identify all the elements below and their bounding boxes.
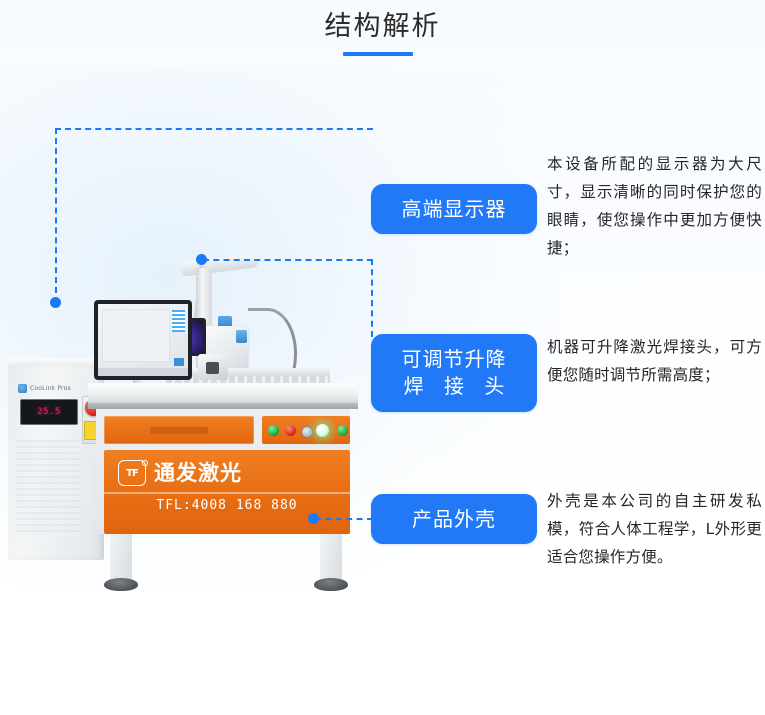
connector-line-1-horizontal (55, 128, 373, 130)
chiller-brand-text: CooLink Pros (30, 385, 71, 392)
callout-description-1: 本设备所配的显示器为大尺寸，显示清晰的同时保护您的眼睛，使您操作中更加方便快捷； (547, 150, 762, 262)
workbench-top (88, 383, 358, 405)
key-switch-icon[interactable] (301, 426, 313, 438)
callout-pill-high-end-monitor[interactable]: 高端显示器 (371, 184, 537, 234)
cabinet-divider (104, 492, 350, 494)
fixture-clamp (206, 362, 219, 374)
connector-dot-3 (308, 513, 319, 524)
coolink-logo-icon (18, 384, 27, 393)
callout-pill-1-label: 高端显示器 (402, 196, 507, 223)
screen-taskbar (98, 368, 188, 376)
drawer-handle-icon (150, 427, 208, 434)
connector-line-1-vertical (55, 128, 57, 303)
callout-description-2: 机器可升降激光焊接头，可方便您随时调节所需高度； (547, 333, 762, 389)
screen-panel-strip (172, 310, 185, 332)
green-button-2[interactable] (337, 425, 348, 436)
machine-leg-right (320, 534, 342, 582)
monitor-screen (98, 304, 188, 376)
red-stop-button[interactable] (285, 425, 296, 436)
connector-line-2-vertical (371, 259, 373, 337)
page-title: 结构解析 (0, 4, 765, 43)
machine-leg-left (110, 534, 132, 582)
chiller-vent-grille (16, 440, 80, 536)
chiller-brand-label: CooLink Pros (18, 383, 80, 394)
brand-logo-row: TF 通发激光 (118, 458, 318, 488)
connector-line-3-horizontal (315, 518, 373, 520)
connector-dot-1 (50, 297, 61, 308)
connector-dot-2 (196, 254, 207, 265)
gantry-upper-arm (179, 253, 258, 276)
callout-pill-adjustable-welding-head[interactable]: 可调节升降 焊 接 头 (371, 334, 537, 412)
screen-icon (174, 358, 184, 366)
connector-line-2-horizontal (203, 259, 373, 261)
title-underline (343, 52, 413, 56)
chiller-temperature-display: 25.5 (20, 399, 78, 425)
brand-name-text: 通发激光 (154, 463, 242, 484)
tf-logo-icon: TF (118, 460, 146, 486)
telephone-text: TFL:4008 168 880 (104, 498, 350, 513)
machine-foot-left (104, 578, 138, 591)
operator-monitor (94, 300, 192, 380)
callout-pill-product-housing[interactable]: 产品外壳 (371, 494, 537, 544)
laser-welding-machine-illustration: CooLink Pros 25.5 (0, 140, 400, 610)
callout-pill-3-label: 产品外壳 (412, 506, 496, 533)
illuminated-start-button[interactable] (316, 424, 329, 437)
chiller-display-value: 25.5 (37, 408, 61, 417)
callout-pill-2-label-line1: 可调节升降 (402, 346, 507, 373)
green-button-1[interactable] (268, 425, 279, 436)
machine-foot-right (314, 578, 348, 591)
infographic-page: 结构解析 CooLink Pros 25.5 (0, 0, 765, 715)
callout-pill-2-label-line2: 焊 接 头 (397, 373, 512, 400)
head-blue-connector (236, 330, 247, 343)
callout-description-3: 外壳是本公司的自主研发私模，符合人体工程学，L外形更适合您操作方便。 (547, 487, 762, 571)
